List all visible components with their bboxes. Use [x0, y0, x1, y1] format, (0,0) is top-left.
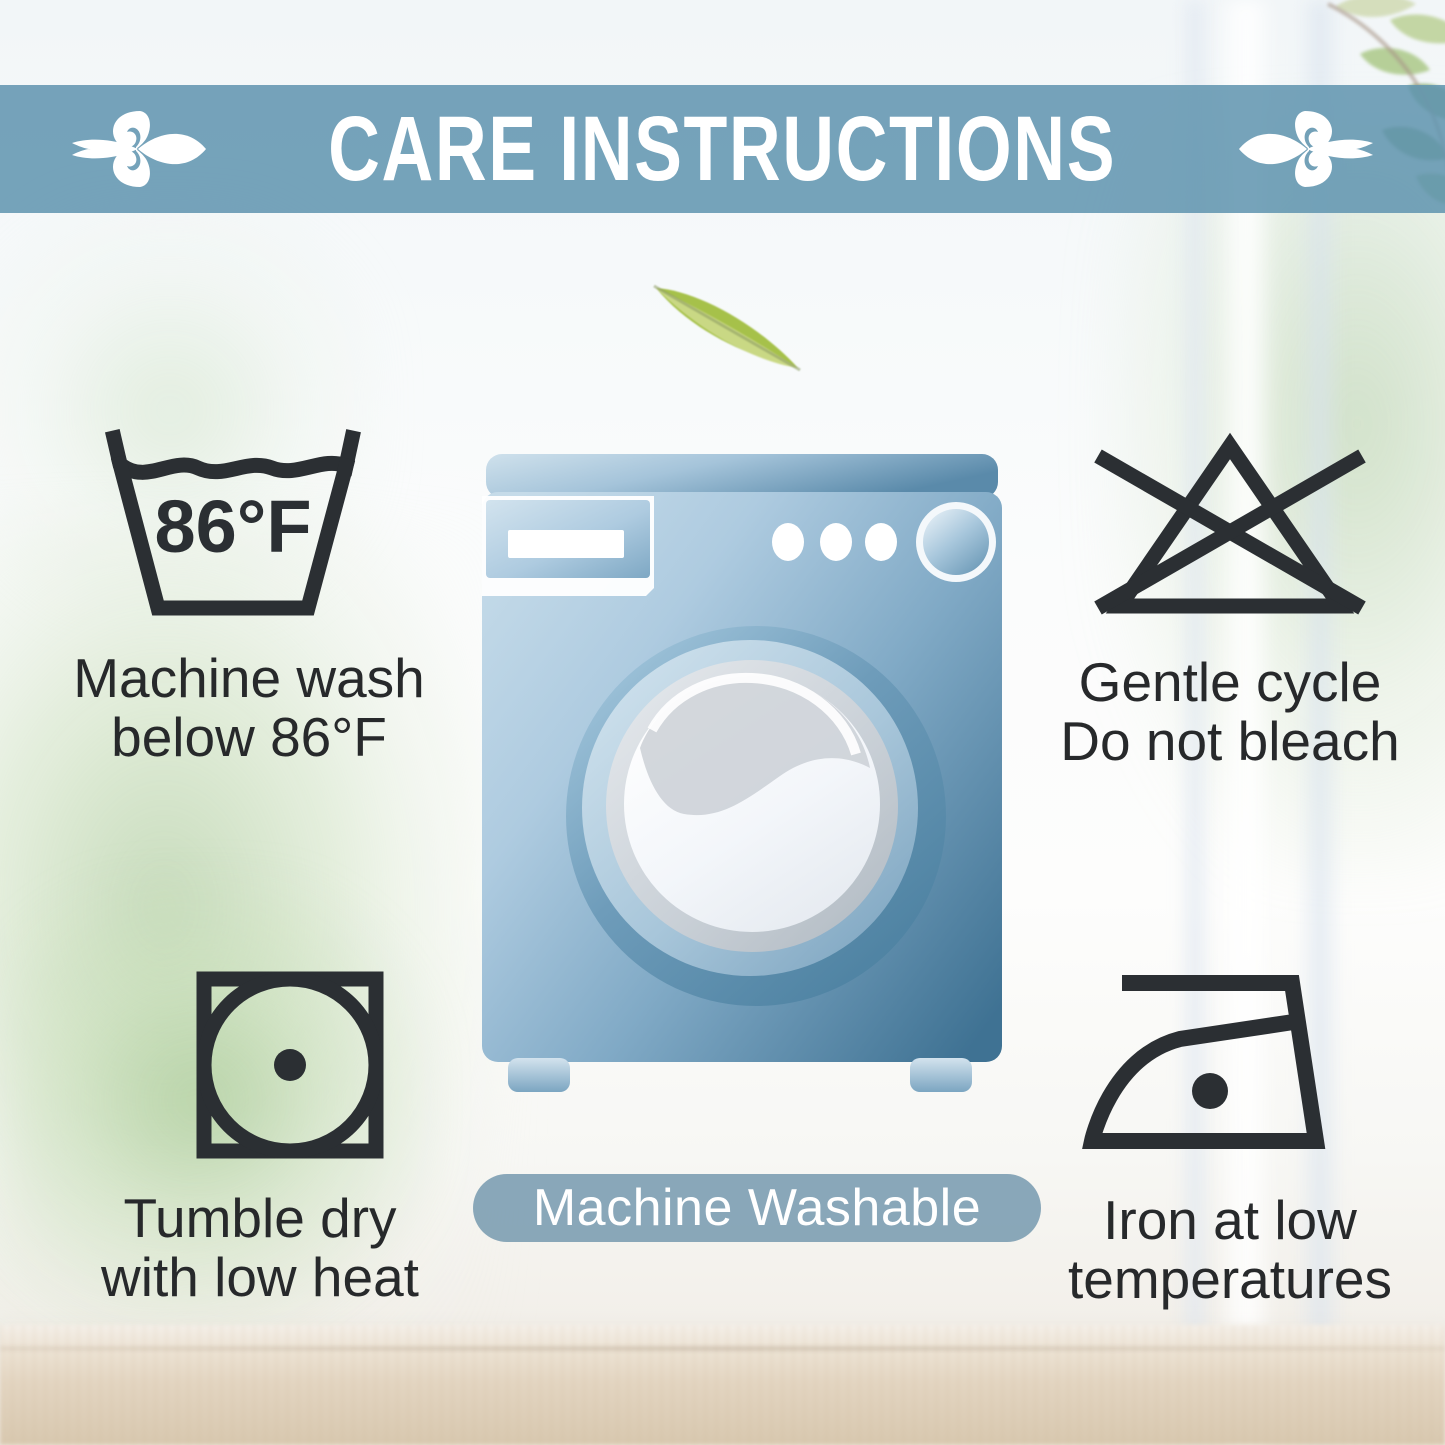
wash-temperature-value: 86°F: [154, 485, 311, 568]
care-instructions-infographic: CARE INSTRUCTIONS 86°F Machine wash: [0, 0, 1445, 1445]
fleur-de-lis-icon-left: [52, 103, 212, 195]
wood-surface: [0, 1325, 1445, 1445]
page-title: CARE INSTRUCTIONS: [329, 103, 1117, 195]
wood-surface-seam: [0, 1347, 1445, 1350]
fleur-de-lis-icon-right: [1233, 103, 1393, 195]
iron-icon: [1030, 965, 1430, 1165]
wash-tub-icon: 86°F: [34, 428, 464, 623]
washing-machine-illustration: [440, 430, 1040, 1150]
care-label-machine-wash: Machine wash below 86°F: [34, 649, 464, 768]
crossed-triangle-icon: [1030, 428, 1430, 623]
tumble-dry-heat-dot: [274, 1049, 306, 1081]
care-item-machine-wash: 86°F Machine wash below 86°F: [34, 428, 464, 768]
drawer-handle: [508, 530, 624, 558]
machine-control-knob[interactable]: [923, 509, 989, 575]
tumble-dry-square-circle-icon: [60, 965, 460, 1165]
indicator-light-3: [865, 523, 897, 561]
care-label-tumble-dry: Tumble dry with low heat: [60, 1189, 460, 1308]
care-label-do-not-bleach: Gentle cycle Do not bleach: [1030, 653, 1430, 772]
machine-foot-left: [508, 1058, 570, 1092]
floating-leaf-icon: [648, 276, 812, 372]
iron-heat-dot: [1192, 1073, 1228, 1109]
badge-label: Machine Washable: [533, 1182, 981, 1234]
care-label-iron-low: Iron at low temperatures: [1030, 1191, 1430, 1310]
indicator-light-2: [820, 523, 852, 561]
machine-top-panel: [486, 454, 998, 498]
header-banner: CARE INSTRUCTIONS: [0, 85, 1445, 213]
machine-foot-right: [910, 1058, 972, 1092]
care-item-tumble-dry: Tumble dry with low heat: [60, 965, 460, 1308]
care-item-do-not-bleach: Gentle cycle Do not bleach: [1030, 428, 1430, 772]
indicator-light-1: [772, 523, 804, 561]
care-item-iron-low: Iron at low temperatures: [1030, 965, 1430, 1310]
machine-washable-badge: Machine Washable: [473, 1174, 1041, 1242]
